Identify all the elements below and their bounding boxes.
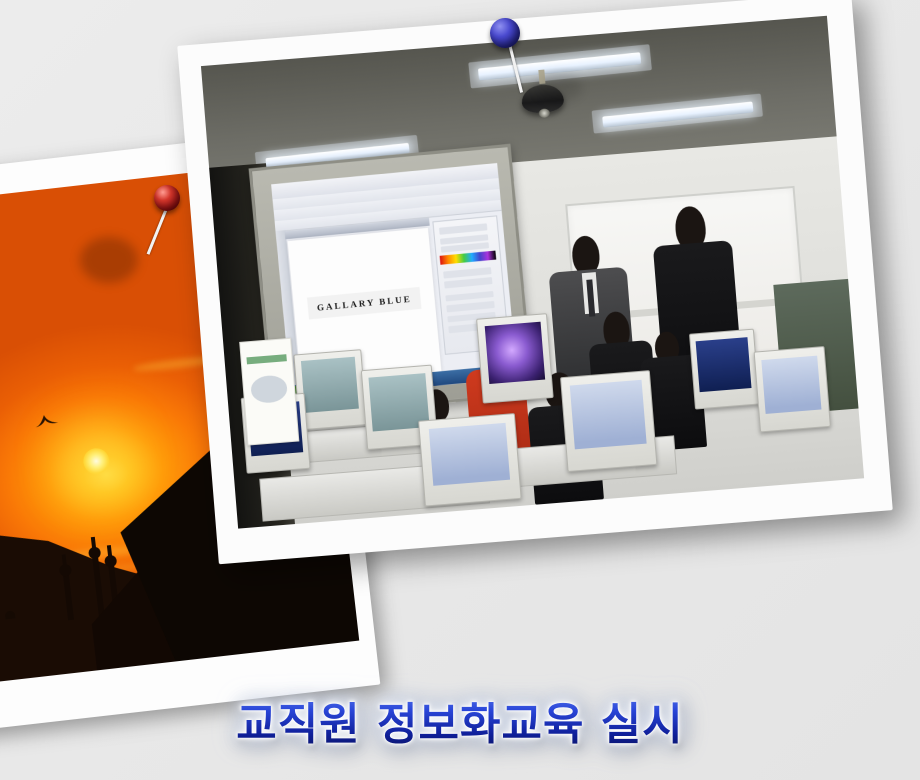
monitor [689,329,760,410]
panel-row [439,224,488,235]
classroom-photo-card[interactable]: GALLARY BLUE [177,0,893,564]
classroom-photo-image: GALLARY BLUE [201,16,864,529]
monitor [753,346,830,432]
poster-canvas: GALLARY BLUE [0,0,920,780]
blue-pushpin-shadow [536,72,582,102]
page-title: 교직원 정보화교육 실시 [0,688,920,752]
panel-row [444,278,493,289]
color-swatch-bar [440,251,496,265]
monitor [418,413,521,506]
monitor [560,370,657,472]
blue-pushpin-head [490,18,520,48]
document-sheet [239,338,299,446]
panel-row [446,302,495,313]
panel-row [443,267,492,278]
red-pushpin-shadow [80,237,138,283]
dome-silhouette [4,610,15,619]
panel-row [445,291,494,302]
document-headline-text: GALLARY BLUE [307,288,421,320]
red-pushpin-head [154,185,180,211]
projector-lens [538,108,550,118]
classroom-photo-frame: GALLARY BLUE [177,0,893,564]
monitor [476,313,554,404]
